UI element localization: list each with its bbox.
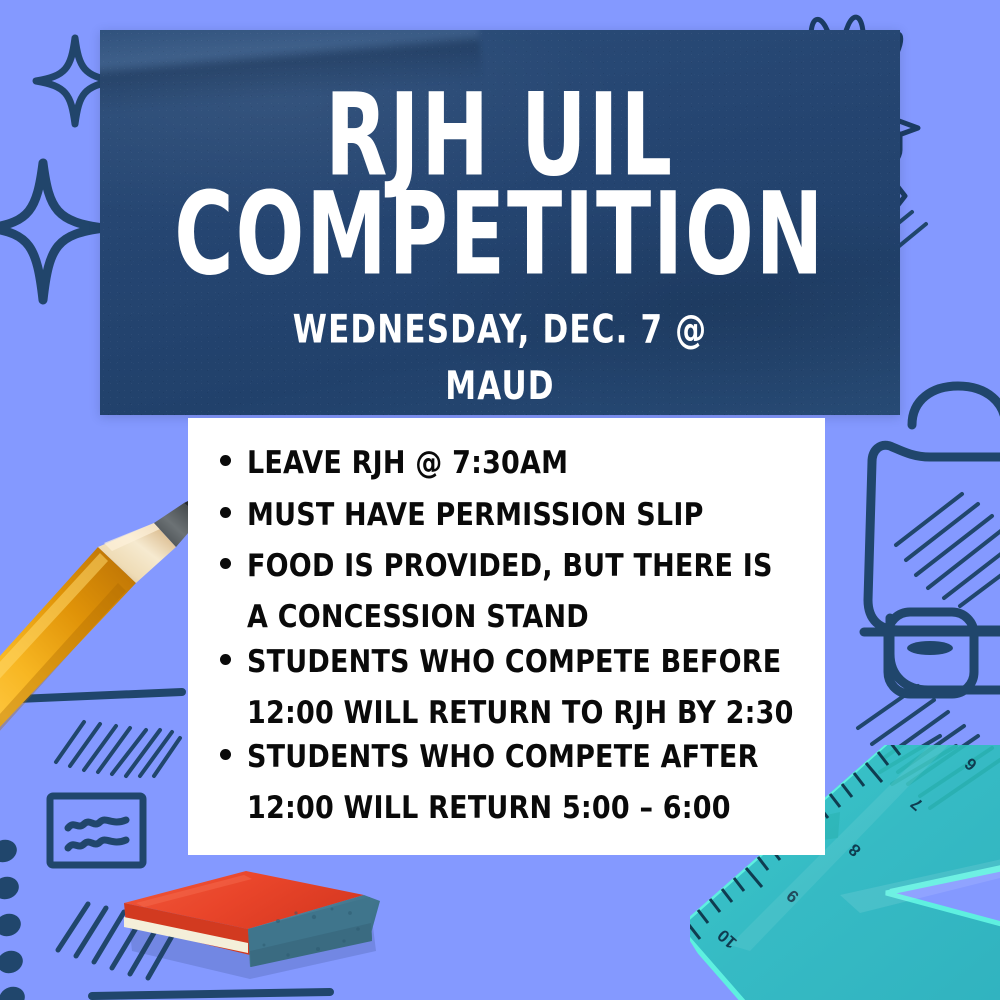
bullet-dot-icon (220, 654, 231, 665)
spiral-binding-icon (0, 837, 28, 1000)
sparkle-icon (0, 163, 104, 300)
list-item: LEAVE RJH @ 7:30AM (206, 438, 799, 482)
bullet-text: STUDENTS WHO COMPETE AFTER 12:00 WILL RE… (247, 732, 799, 833)
list-item: FOOD IS PROVIDED, BUT THERE IS A CONCESS… (206, 541, 799, 628)
backpack-icon (864, 386, 1000, 694)
bullet-text: STUDENTS WHO COMPETE BEFORE 12:00 WILL R… (247, 637, 799, 738)
poster-title-line-2: COMPETITION (175, 181, 826, 287)
bullet-text: MUST HAVE PERMISSION SLIP (247, 490, 704, 541)
bullet-dot-icon (220, 558, 231, 569)
bullet-dot-icon (220, 455, 231, 466)
bullet-text: FOOD IS PROVIDED, BUT THERE IS A CONCESS… (247, 541, 799, 642)
list-item: MUST HAVE PERMISSION SLIP (206, 490, 799, 534)
list-item: STUDENTS WHO COMPETE AFTER 12:00 WILL RE… (206, 732, 799, 819)
details-bullet-list: LEAVE RJH @ 7:30AM MUST HAVE PERMISSION … (206, 438, 799, 820)
bullet-dot-icon (220, 507, 231, 518)
list-item: STUDENTS WHO COMPETE BEFORE 12:00 WILL R… (206, 637, 799, 724)
details-card: LEAVE RJH @ 7:30AM MUST HAVE PERMISSION … (188, 418, 825, 855)
bullet-text: LEAVE RJH @ 7:30AM (247, 438, 568, 489)
poster-canvas: 10 9 8 7 6 RJH UIL COMPETITION WEDNESDAY… (0, 0, 1000, 1000)
header-panel: RJH UIL COMPETITION WEDNESDAY, DEC. 7 @ … (100, 30, 900, 415)
eraser (118, 855, 418, 1000)
bullet-dot-icon (220, 749, 231, 760)
poster-subtitle: WEDNESDAY, DEC. 7 @ MAUD (279, 301, 721, 414)
